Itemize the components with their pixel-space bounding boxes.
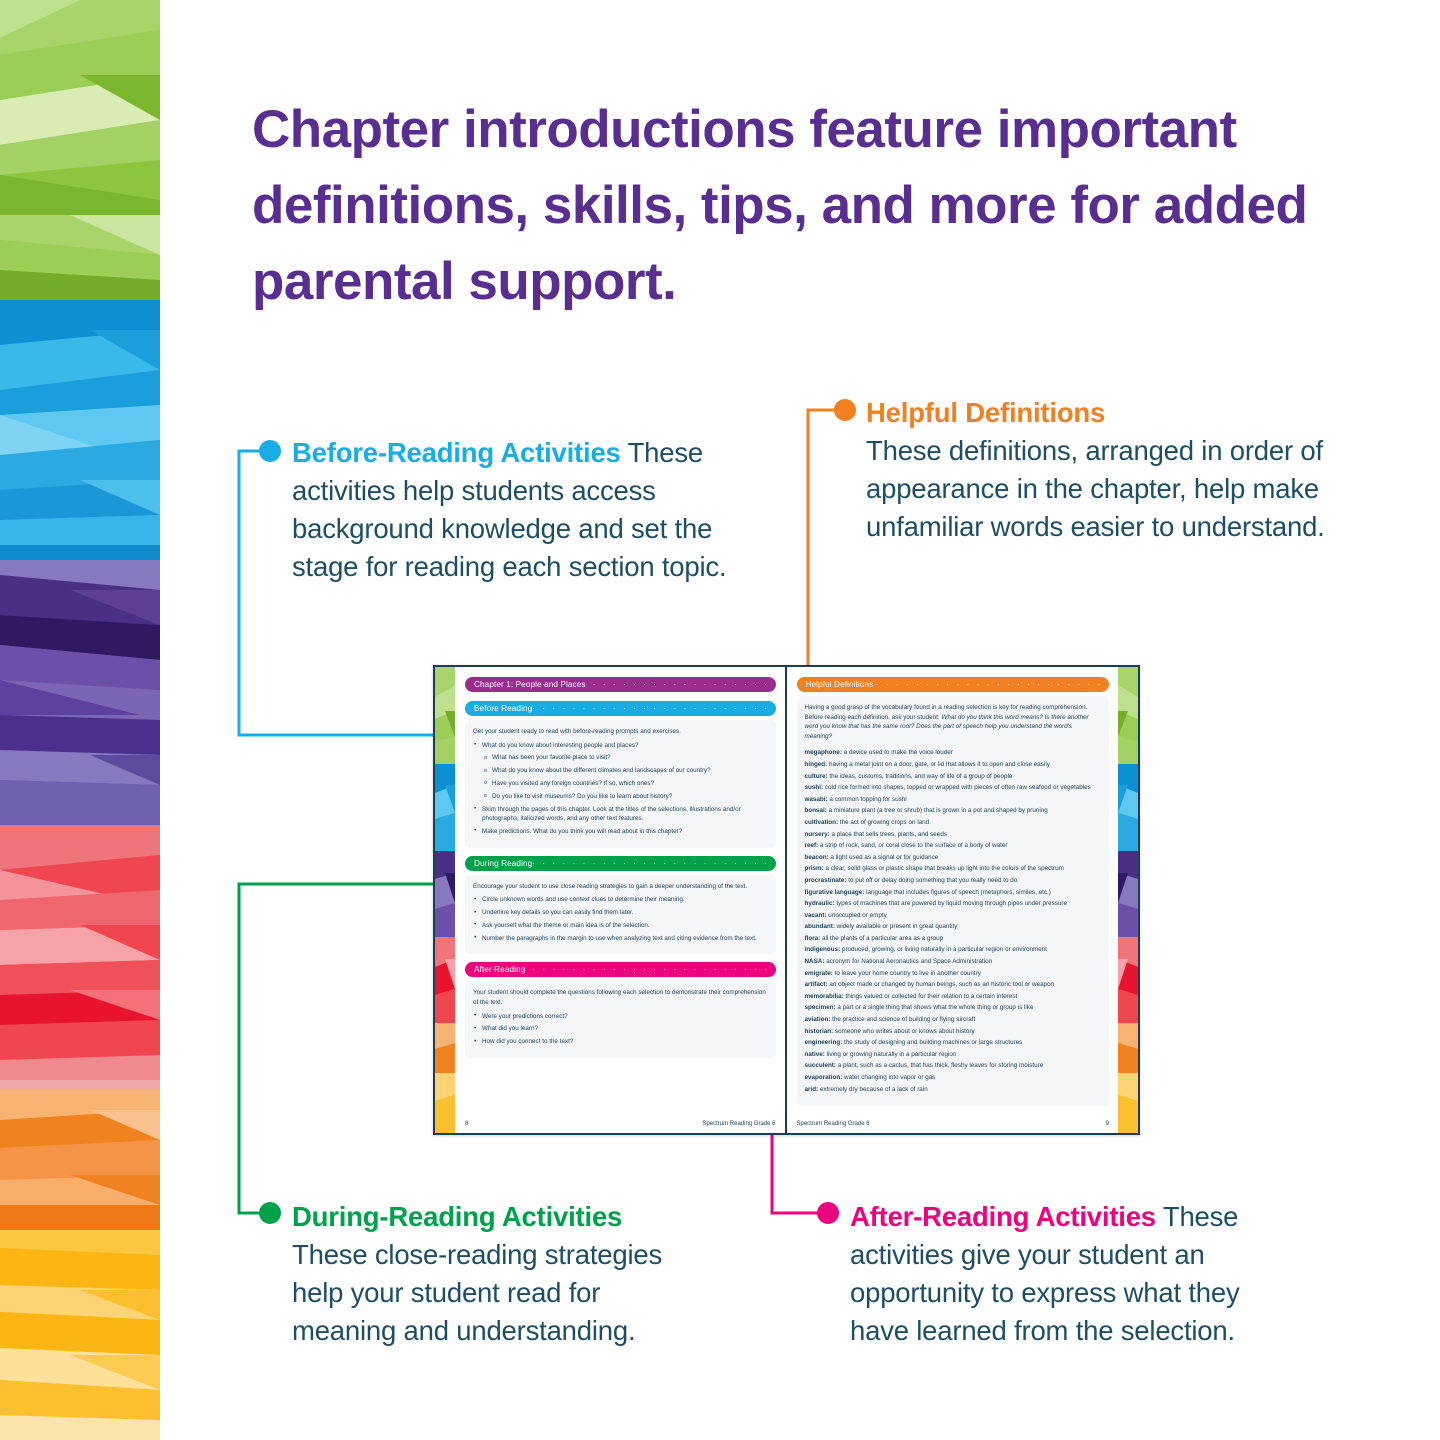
page-footer-left: 8 Spectrum Reading Grade 6 — [465, 1120, 776, 1127]
definition-term: flora: — [805, 935, 821, 942]
list-item: Circle unknown words and use context clu… — [473, 895, 768, 905]
definition-term: reef: — [805, 842, 819, 849]
definition-entry: native: living or growing naturally in a… — [805, 1050, 1102, 1059]
definition-text: a clear, solid glass or plastic shape th… — [824, 865, 1064, 872]
definition-text: language that includes figures of speech… — [864, 889, 1051, 896]
definition-term: native: — [805, 1051, 825, 1058]
definition-entry: specimen: a part or a single thing that … — [805, 1003, 1102, 1012]
after-reading-panel: Your student should complete the questio… — [465, 981, 776, 1058]
definition-text: the act of growing crops on land — [838, 819, 929, 826]
definition-text: things valued or collected for their rel… — [844, 993, 1018, 1000]
definition-entry: hinged: having a metal joint on a door, … — [805, 760, 1102, 769]
definition-text: water changing into vapor or gas — [842, 1074, 935, 1081]
definition-entry: prism: a clear, solid glass or plastic s… — [805, 864, 1102, 873]
definition-text: having a metal joint on a door, gate, or… — [827, 761, 1050, 768]
list-item: How did you connect to the text? — [473, 1037, 768, 1047]
definition-term: nursery: — [805, 831, 830, 838]
helpful-definitions-panel: Having a good grasp of the vocabulary fo… — [797, 696, 1110, 1106]
definition-term: memorabilia: — [805, 993, 844, 1000]
after-reading-intro: Your student should complete the questio… — [473, 988, 768, 1007]
after-reading-bar: After Reading · · · · · · · · · · · · · … — [465, 962, 776, 977]
definition-term: emigrate: — [805, 970, 833, 977]
book-page-right: Helpful Definitions · · · · · · · · · · … — [787, 667, 1139, 1133]
before-reading-bar-label: Before Reading — [474, 704, 532, 713]
definition-entry: memorabilia: things valued or collected … — [805, 992, 1102, 1001]
definition-text: cold rice formed into shapes, topped or … — [823, 784, 1091, 791]
definition-term: culture: — [805, 773, 828, 780]
during-reading-bar-label: During Reading — [474, 859, 532, 868]
definition-term: prism: — [805, 865, 824, 872]
definition-entry: emigrate: to leave your home country to … — [805, 969, 1102, 978]
callout-during-reading-body: These close-reading strategies help your… — [292, 1236, 692, 1350]
bullet-dot-green — [259, 1202, 281, 1224]
definition-entry: megaphone: a device used to make the voi… — [805, 748, 1102, 757]
before-reading-bar: Before Reading · · · · · · · · · · · · ·… — [465, 701, 776, 716]
definition-entry: arid: extremely dry because of a lack of… — [805, 1085, 1102, 1094]
definition-text: unoccupied or empty — [827, 912, 887, 919]
definition-term: succulent: — [805, 1062, 837, 1069]
definition-term: historian: — [805, 1028, 834, 1035]
during-reading-intro: Encourage your student to use close read… — [473, 882, 768, 892]
list-item: Were your predictions correct? — [473, 1012, 768, 1022]
callout-helpful-definitions-lead: Helpful Definitions — [866, 394, 1358, 432]
definition-entry: artifact: an object made or changed by h… — [805, 980, 1102, 989]
footer-title-right: Spectrum Reading Grade 6 — [797, 1121, 870, 1127]
definition-text: widely available or present in great qua… — [835, 923, 958, 930]
callout-helpful-definitions: Helpful Definitions These definitions, a… — [866, 394, 1358, 546]
during-reading-panel: Encourage your student to use close read… — [465, 875, 776, 955]
bullet-dot-blue — [259, 440, 281, 462]
definition-text: living or growing naturally in a particu… — [825, 1051, 957, 1058]
callout-during-reading-lead: During-Reading Activities — [292, 1198, 692, 1236]
definition-entry: evaporation: water changing into vapor o… — [805, 1073, 1102, 1082]
definition-entry: reef: a strip of rock, sand, or coral cl… — [805, 841, 1102, 850]
poster-page: Chapter introductions feature important … — [0, 0, 1440, 1440]
during-reading-bar: During Reading · · · · · · · · · · · · ·… — [465, 856, 776, 871]
definition-term: specimen: — [805, 1004, 836, 1011]
definition-term: artifact: — [805, 981, 828, 988]
definition-entry: flora: all the plants of a particular ar… — [805, 934, 1102, 943]
definition-entry: aviation: the practice and science of bu… — [805, 1015, 1102, 1024]
definition-entry: sushi: cold rice formed into shapes, top… — [805, 783, 1102, 792]
list-item: Have you visited any foreign countries? … — [473, 779, 768, 789]
page-edge-pattern-right — [1118, 667, 1138, 1133]
helpful-definitions-bar-label: Helpful Definitions — [806, 680, 874, 689]
definition-term: abundant: — [805, 923, 835, 930]
definition-entry: beacon: a light used as a signal or for … — [805, 853, 1102, 862]
definition-entry: NASA: acronym for National Aeronautics a… — [805, 957, 1102, 966]
list-item: Make predictions. What do you think you … — [473, 827, 768, 837]
definition-term: sushi: — [805, 784, 824, 791]
definition-entry: nursery: a place that sells trees, plant… — [805, 830, 1102, 839]
definition-entry: vacant: unoccupied or empty — [805, 911, 1102, 920]
during-reading-list: Circle unknown words and use context clu… — [473, 895, 768, 943]
definition-term: aviation: — [805, 1016, 831, 1023]
definition-text: a strip of rock, sand, or coral close to… — [818, 842, 1007, 849]
definition-term: evaporation: — [805, 1074, 843, 1081]
list-item: What has been your favorite place to vis… — [473, 753, 768, 763]
definition-entry: historian: someone who writes about or k… — [805, 1027, 1102, 1036]
definition-term: procrastinate: — [805, 877, 847, 884]
book-spread-image: Chapter 1: People and Places · · · · · ·… — [433, 665, 1140, 1135]
callout-during-reading: During-Reading Activities These close-re… — [292, 1198, 692, 1350]
definition-term: megaphone: — [805, 749, 842, 756]
definition-text: all the plants of a particular area as a… — [820, 935, 943, 942]
definition-term: bonsai: — [805, 807, 827, 814]
definitions-intro: Having a good grasp of the vocabulary fo… — [805, 703, 1102, 741]
definition-entry: culture: the ideas, customs, traditions,… — [805, 772, 1102, 781]
definition-text: a place that sells trees, plants, and se… — [830, 831, 947, 838]
list-item: What did you learn? — [473, 1024, 768, 1034]
definition-term: beacon: — [805, 854, 829, 861]
definition-text: to put off or delay doing something that… — [847, 877, 1018, 884]
before-reading-list: What do you know about interesting peopl… — [473, 741, 768, 837]
book-page-right-body: Helpful Definitions · · · · · · · · · · … — [787, 667, 1119, 1133]
definition-entry: figurative language: language that inclu… — [805, 888, 1102, 897]
definition-text: someone who writes about or knows about … — [833, 1028, 974, 1035]
footer-title-left: Spectrum Reading Grade 6 — [702, 1121, 775, 1127]
list-item: Underline key details so you can easily … — [473, 908, 768, 918]
definition-term: wasabi: — [805, 796, 828, 803]
definition-entry: procrastinate: to put off or delay doing… — [805, 876, 1102, 885]
list-item: What do you know about the different cli… — [473, 766, 768, 776]
definition-text: produced, growing, or living naturally i… — [840, 946, 1047, 953]
definition-text: types of machines that are powered by li… — [835, 900, 1067, 907]
definition-term: vacant: — [805, 912, 827, 919]
list-item: What do you know about interesting peopl… — [473, 741, 768, 751]
helpful-definitions-bar: Helpful Definitions · · · · · · · · · · … — [797, 677, 1110, 692]
definitions-list: megaphone: a device used to make the voi… — [805, 748, 1102, 1093]
definition-entry: succulent: a plant, such as a cactus, th… — [805, 1061, 1102, 1070]
definition-entry: indigenous: produced, growing, or living… — [805, 945, 1102, 954]
definition-text: a plant, such as a cactus, that has thic… — [836, 1062, 1043, 1069]
list-item: Do you like to visit museums? Do you lik… — [473, 792, 768, 802]
definition-text: an object made or changed by human being… — [828, 981, 1054, 988]
definition-text: acronym for National Aeronautics and Spa… — [824, 958, 992, 965]
after-reading-bar-label: After Reading — [474, 965, 525, 974]
definition-text: extremely dry because of a lack of rain — [818, 1086, 928, 1093]
book-page-left-body: Chapter 1: People and Places · · · · · ·… — [455, 667, 785, 1133]
chapter-bar-label: Chapter 1: People and Places — [474, 680, 586, 689]
definition-text: the practice and science of building or … — [830, 1016, 975, 1023]
definition-term: engineering: — [805, 1039, 843, 1046]
callout-after-reading: After-Reading Activities These activitie… — [850, 1198, 1250, 1350]
page-number-right: 9 — [1105, 1120, 1109, 1127]
definition-term: indigenous: — [805, 946, 841, 953]
list-item: Skim through the pages of this chapter. … — [473, 805, 768, 824]
definition-text: to leave your home country to live in an… — [833, 970, 981, 977]
definition-entry: bonsai: a miniature plant (a tree or shr… — [805, 806, 1102, 815]
after-reading-list: Were your predictions correct?What did y… — [473, 1012, 768, 1047]
definition-term: arid: — [805, 1086, 819, 1093]
definition-text: the ideas, customs, traditions, and way … — [828, 773, 1013, 780]
definition-term: hinged: — [805, 761, 828, 768]
definition-term: figurative language: — [805, 889, 865, 896]
callout-helpful-definitions-body: These definitions, arranged in order of … — [866, 432, 1358, 546]
definition-entry: abundant: widely available or present in… — [805, 922, 1102, 931]
definition-text: a common topping for sushi — [828, 796, 907, 803]
definition-text: a light used as a signal or for guidance — [829, 854, 939, 861]
page-number-left: 8 — [465, 1120, 469, 1127]
before-reading-panel: Get your student ready to read with befo… — [465, 720, 776, 848]
callout-before-reading-lead: Before-Reading Activities — [292, 437, 621, 468]
definition-entry: engineering: the study of designing and … — [805, 1038, 1102, 1047]
page-footer-right: Spectrum Reading Grade 6 9 — [797, 1120, 1110, 1127]
callout-after-reading-lead: After-Reading Activities — [850, 1201, 1156, 1232]
definition-text: a device used to make the voice louder — [842, 749, 953, 756]
callout-before-reading: Before-Reading Activities These activiti… — [292, 434, 770, 586]
bullet-dot-orange — [834, 399, 856, 421]
before-reading-intro: Get your student ready to read with befo… — [473, 727, 768, 737]
definition-entry: cultivation: the act of growing crops on… — [805, 818, 1102, 827]
definition-text: the study of designing and building mach… — [842, 1039, 1022, 1046]
definition-term: NASA: — [805, 958, 825, 965]
bullet-dot-pink — [817, 1202, 839, 1224]
definition-term: hydraulic: — [805, 900, 835, 907]
book-page-left: Chapter 1: People and Places · · · · · ·… — [435, 667, 787, 1133]
definition-entry: wasabi: a common topping for sushi — [805, 795, 1102, 804]
page-edge-pattern-left — [435, 667, 455, 1133]
list-item: Number the paragraphs in the margin to u… — [473, 934, 768, 944]
chapter-bar: Chapter 1: People and Places · · · · · ·… — [465, 677, 776, 692]
definition-term: cultivation: — [805, 819, 839, 826]
definition-text: a miniature plant (a tree or shrub) that… — [827, 807, 1048, 814]
definition-text: a part or a single thing that shows what… — [836, 1004, 1034, 1011]
list-item: Ask yourself what the theme or main idea… — [473, 921, 768, 931]
definition-entry: hydraulic: types of machines that are po… — [805, 899, 1102, 908]
